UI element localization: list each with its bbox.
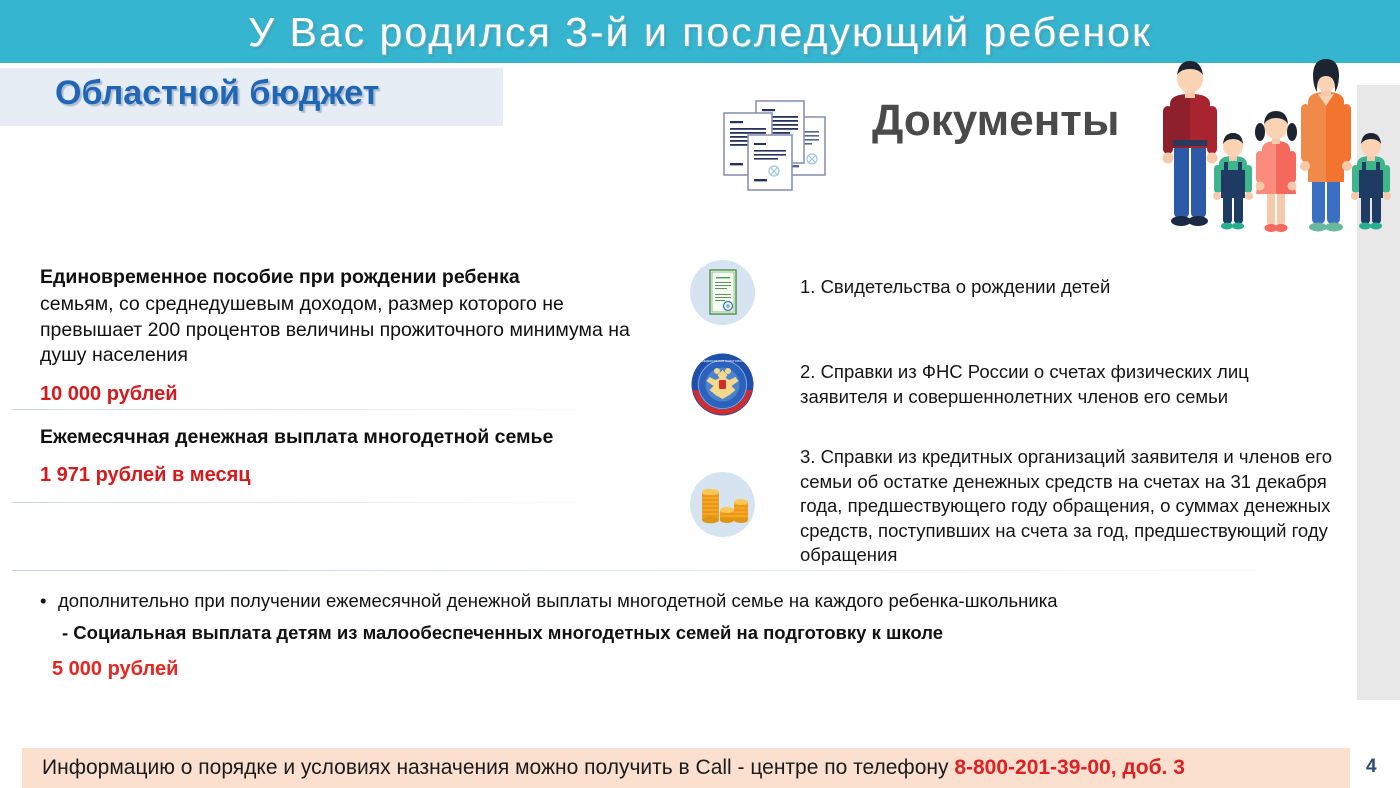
- coins-icon: [690, 472, 755, 537]
- document-item-2: 2. Справки из ФНС России о счетах физиче…: [800, 360, 1320, 409]
- bottom-section: • дополнительно при получении ежемесячно…: [40, 588, 1340, 681]
- divider-3: [12, 570, 1345, 571]
- budget-chip: Областной бюджет: [0, 68, 503, 126]
- svg-text:ФЕДЕРАЛЬНАЯ НАЛОГОВАЯ: ФЕДЕРАЛЬНАЯ НАЛОГОВАЯ: [702, 359, 744, 363]
- benefit-description: семьям, со среднедушевым доходом, размер…: [40, 292, 640, 369]
- footer-text: Информацию о порядке и условиях назначен…: [42, 752, 1342, 784]
- divider-2: [12, 502, 625, 503]
- bottom-bullet-text: дополнительно при получении ежемесячной …: [58, 590, 1058, 611]
- page-title: У Вас родился 3-й и последующий ребенок: [0, 2, 1400, 62]
- slide-root: У Вас родился 3-й и последующий ребенок …: [0, 0, 1400, 788]
- birth-certificate-icon: [690, 260, 755, 325]
- footer-phone-number[interactable]: 8-800-201-39-00, доб. 3: [954, 756, 1185, 779]
- benefit-title: Ежемесячная денежная выплата многодетной…: [40, 425, 640, 450]
- page-number: 4: [1366, 756, 1377, 778]
- fns-emblem-icon: ФЕДЕРАЛЬНАЯ НАЛОГОВАЯ: [690, 352, 755, 417]
- divider-1: [12, 409, 625, 410]
- document-item-1: 1. Свидетельства о рождении детей: [800, 275, 1330, 300]
- bullet-dot-icon: •: [40, 588, 46, 614]
- benefit-amount: 1 971 рублей в месяц: [40, 462, 640, 488]
- document-item-3: 3. Справки из кредитных организаций заяв…: [800, 445, 1345, 568]
- benefit-block-2: Ежемесячная денежная выплата многодетной…: [40, 425, 640, 488]
- benefit-amount: 10 000 рублей: [40, 381, 640, 407]
- documents-heading: Документы: [872, 96, 1119, 146]
- bottom-amount: 5 000 рублей: [40, 658, 1340, 681]
- bottom-sub-line: - Социальная выплата детям из малообеспе…: [40, 620, 1340, 646]
- benefit-title: Единовременное пособие при рождении ребе…: [40, 265, 640, 290]
- family-of-five-illustration: [1150, 58, 1400, 254]
- benefit-block-1: Единовременное пособие при рождении ребе…: [40, 265, 640, 407]
- footer-info-text: Информацию о порядке и условиях назначен…: [42, 756, 954, 779]
- budget-chip-label: Областной бюджет: [55, 74, 379, 113]
- documents-stack-icon: [718, 95, 843, 195]
- bottom-bullet-row: • дополнительно при получении ежемесячно…: [40, 588, 1340, 614]
